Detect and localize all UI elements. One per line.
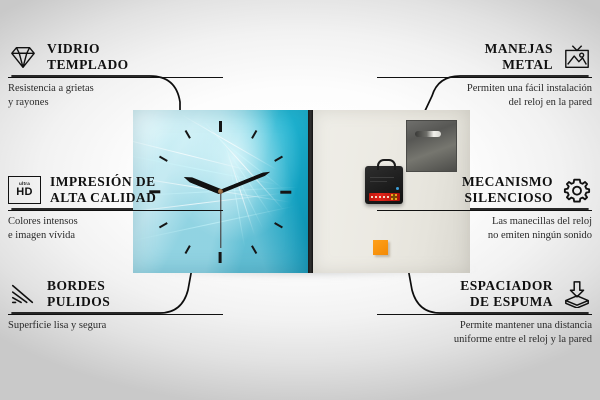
feature-manejas-metal: MANEJAS METAL Permiten una fácil instala… — [377, 40, 592, 110]
feature-title: ESPACIADOR DE ESPUMA — [460, 278, 553, 310]
feature-rule — [8, 210, 223, 211]
feature-impresion-alta-calidad: ultra HD IMPRESIÓN DE ALTA CALIDAD Color… — [8, 173, 223, 243]
feature-rule — [377, 314, 592, 315]
infographic-canvas: VIDRIO TEMPLADO Resistencia a grietas y … — [0, 0, 600, 400]
feature-rule — [377, 77, 592, 78]
hanger-slot — [415, 131, 441, 137]
feature-title: MANEJAS METAL — [485, 41, 553, 73]
picture-hanger-icon — [562, 43, 592, 71]
feature-mecanismo-silencioso: MECANISMO SILENCIOSO Las manecillas del … — [377, 173, 592, 243]
feature-title: IMPRESIÓN DE ALTA CALIDAD — [50, 174, 156, 206]
feature-subtitle: Permiten una fácil instalación del reloj… — [377, 82, 592, 110]
ultra-hd-icon: ultra HD — [8, 176, 41, 204]
feature-title: MECANISMO SILENCIOSO — [462, 174, 553, 206]
foam-spacer-icon — [562, 280, 592, 308]
feature-espaciador-espuma: ESPACIADOR DE ESPUMA Permite mantener un… — [377, 277, 592, 347]
polished-edges-icon — [8, 280, 38, 308]
ultra-hd-icon-hd-text: HD — [16, 187, 33, 198]
feature-title: VIDRIO TEMPLADO — [47, 41, 129, 73]
feature-header: VIDRIO TEMPLADO — [8, 40, 223, 74]
feature-subtitle: Resistencia a grietas y rayones — [8, 82, 223, 110]
feature-subtitle: Permite mantener una distancia uniforme … — [377, 319, 592, 347]
feature-rule — [8, 77, 223, 78]
feature-subtitle: Las manecillas del reloj no emiten ningú… — [377, 215, 592, 243]
feature-header: ultra HD IMPRESIÓN DE ALTA CALIDAD — [8, 173, 223, 207]
feature-header: BORDES PULIDOS — [8, 277, 223, 311]
gear-icon — [562, 176, 592, 204]
feature-vidrio-templado: VIDRIO TEMPLADO Resistencia a grietas y … — [8, 40, 223, 110]
feature-header: ESPACIADOR DE ESPUMA — [377, 277, 592, 311]
feature-subtitle: Superficie lisa y segura — [8, 319, 223, 333]
feature-title: BORDES PULIDOS — [47, 278, 110, 310]
feature-bordes-pulidos: BORDES PULIDOS Superficie lisa y segura — [8, 277, 223, 333]
movement-hook — [377, 159, 396, 170]
feature-rule — [8, 314, 223, 315]
metal-hanger-plate — [406, 120, 457, 172]
diamond-icon — [8, 43, 38, 71]
feature-subtitle: Colores intensos e imagen vívida — [8, 215, 223, 243]
feature-header: MANEJAS METAL — [377, 40, 592, 74]
feature-header: MECANISMO SILENCIOSO — [377, 173, 592, 207]
feature-rule — [377, 210, 592, 211]
